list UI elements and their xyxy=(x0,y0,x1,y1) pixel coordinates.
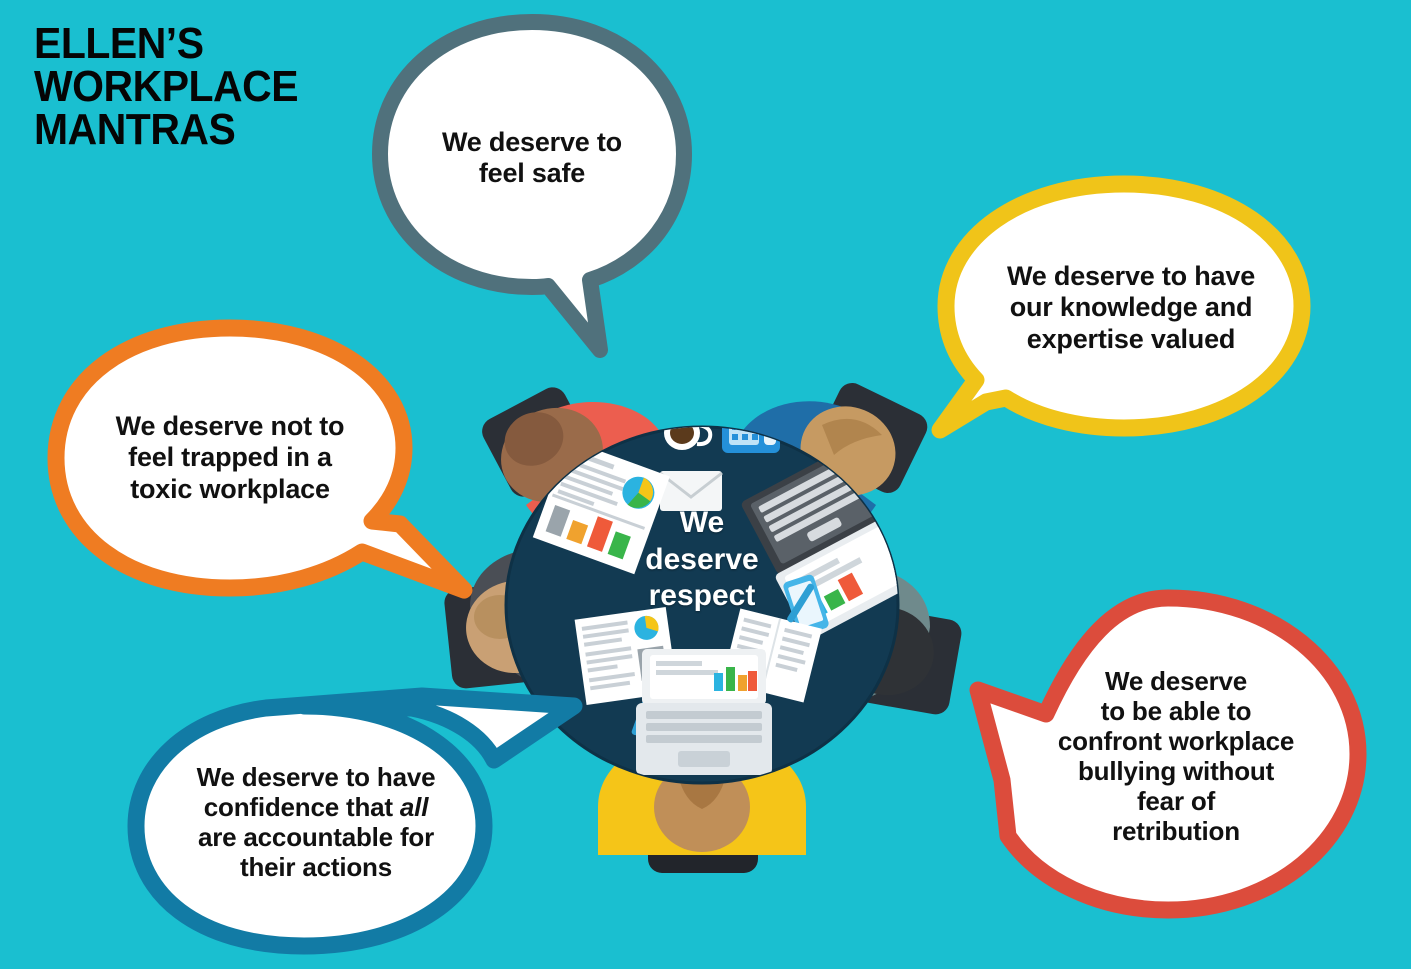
infographic-canvas: ELLEN’S WORKPLACE MANTRAS xyxy=(0,0,1411,969)
page-title: ELLEN’S WORKPLACE MANTRAS xyxy=(34,22,298,151)
bubble-accountable[interactable]: We deserve to have confidence that all a… xyxy=(122,690,592,962)
bubble-retribution[interactable]: We deserve to be able to confront workpl… xyxy=(962,584,1372,924)
bubble-text-line: We deserve to have confidence that all a… xyxy=(197,762,436,883)
bubble-text: We deserve to have confidence that all a… xyxy=(166,732,466,912)
bubble-text: We deserve to be able to confront workpl… xyxy=(1018,630,1334,882)
white-laptop xyxy=(636,649,772,775)
bubble-text: We deserve to feel safe xyxy=(406,98,658,218)
bubble-knowledge-valued[interactable]: We deserve to have our knowledge and exp… xyxy=(910,176,1310,446)
bubble-text: We deserve to have our knowledge and exp… xyxy=(972,238,1290,378)
bubble-toxic-workplace[interactable]: We deserve not to feel trapped in a toxi… xyxy=(40,318,490,618)
bubble-text: We deserve not to feel trapped in a toxi… xyxy=(88,380,372,536)
